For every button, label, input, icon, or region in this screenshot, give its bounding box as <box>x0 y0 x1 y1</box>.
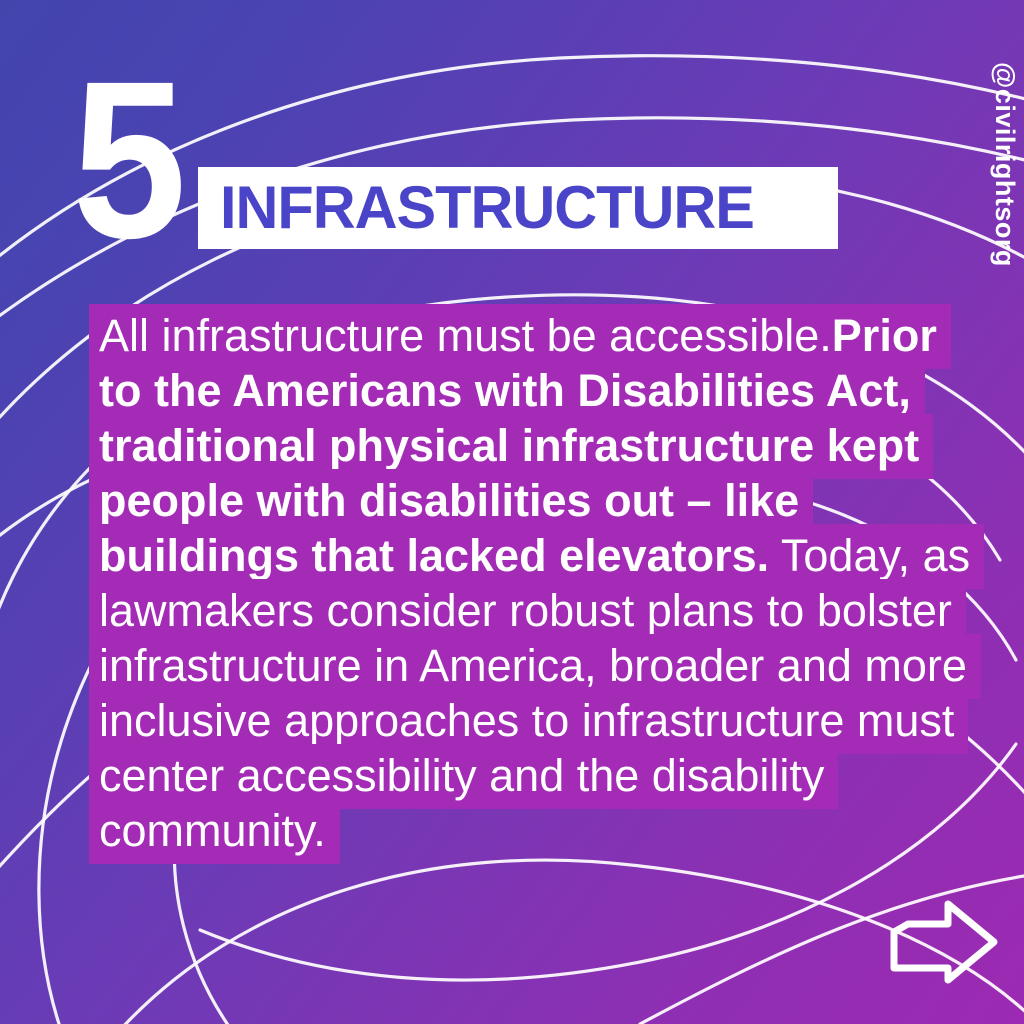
social-card: 5 INFRASTRUCTURE @civilrightsorg All inf… <box>0 0 1024 1024</box>
account-handle: @civilrightsorg <box>991 62 1018 267</box>
body-rest: Today, as lawmakers consider robust plan… <box>99 530 970 856</box>
item-number: 5 <box>72 48 181 272</box>
arrow-right-icon[interactable] <box>886 898 1002 984</box>
page-title: INFRASTRUCTURE <box>220 178 754 238</box>
body-lead: All infrastructure must be accessible. <box>99 310 832 361</box>
body-text: All infrastructure must be accessible.Pr… <box>93 308 973 858</box>
title-banner: INFRASTRUCTURE <box>198 167 838 249</box>
body-text-highlight: All infrastructure must be accessible.Pr… <box>93 304 976 864</box>
